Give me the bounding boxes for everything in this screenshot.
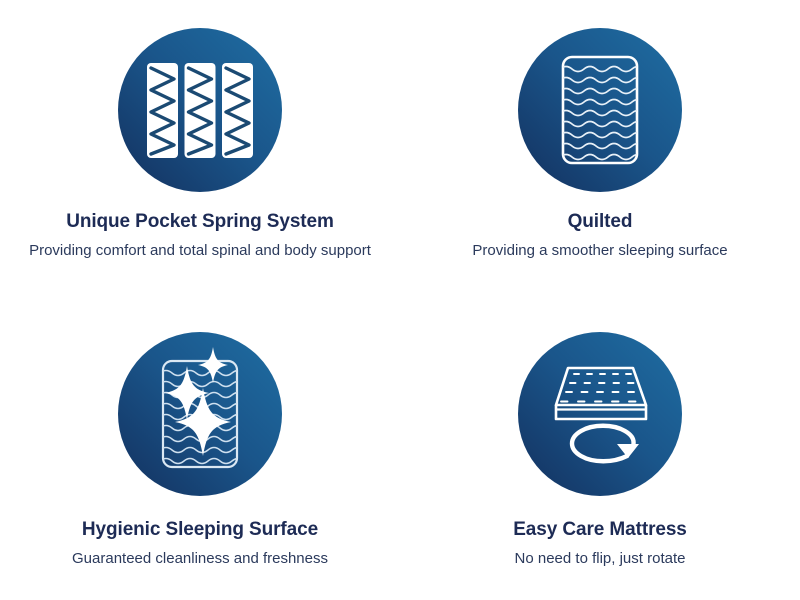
feature-card-hygienic: Hygienic Sleeping Surface Guaranteed cle… — [0, 300, 400, 600]
feature-title: Unique Pocket Spring System — [0, 210, 400, 234]
feature-title: Hygienic Sleeping Surface — [0, 518, 400, 542]
badge-circle-pocket-spring — [118, 28, 282, 192]
feature-title: Quilted — [400, 210, 800, 234]
pocket-spring-icon — [118, 28, 282, 192]
feature-title: Easy Care Mattress — [400, 518, 800, 542]
badge-circle-hygienic — [118, 332, 282, 496]
feature-subtitle: No need to flip, just rotate — [400, 548, 800, 569]
feature-card-quilted: Quilted Providing a smoother sleeping su… — [400, 0, 800, 300]
feature-subtitle: Providing comfort and total spinal and b… — [0, 240, 400, 261]
feature-subtitle: Guaranteed cleanliness and freshness — [0, 548, 400, 569]
feature-grid: Unique Pocket Spring System Providing co… — [0, 0, 800, 600]
caption-pocket-spring: Unique Pocket Spring System Providing co… — [0, 210, 400, 261]
feature-card-easy-care: Easy Care Mattress No need to flip, just… — [400, 300, 800, 600]
caption-quilted: Quilted Providing a smoother sleeping su… — [400, 210, 800, 261]
hygienic-sparkle-mattress-icon — [118, 332, 282, 496]
caption-hygienic: Hygienic Sleeping Surface Guaranteed cle… — [0, 518, 400, 569]
badge-circle-quilted — [518, 28, 682, 192]
quilted-mattress-icon — [518, 28, 682, 192]
caption-easy-care: Easy Care Mattress No need to flip, just… — [400, 518, 800, 569]
feature-card-pocket-spring: Unique Pocket Spring System Providing co… — [0, 0, 400, 300]
rotate-mattress-icon — [518, 332, 682, 496]
feature-subtitle: Providing a smoother sleeping surface — [400, 240, 800, 261]
badge-circle-easy-care — [518, 332, 682, 496]
